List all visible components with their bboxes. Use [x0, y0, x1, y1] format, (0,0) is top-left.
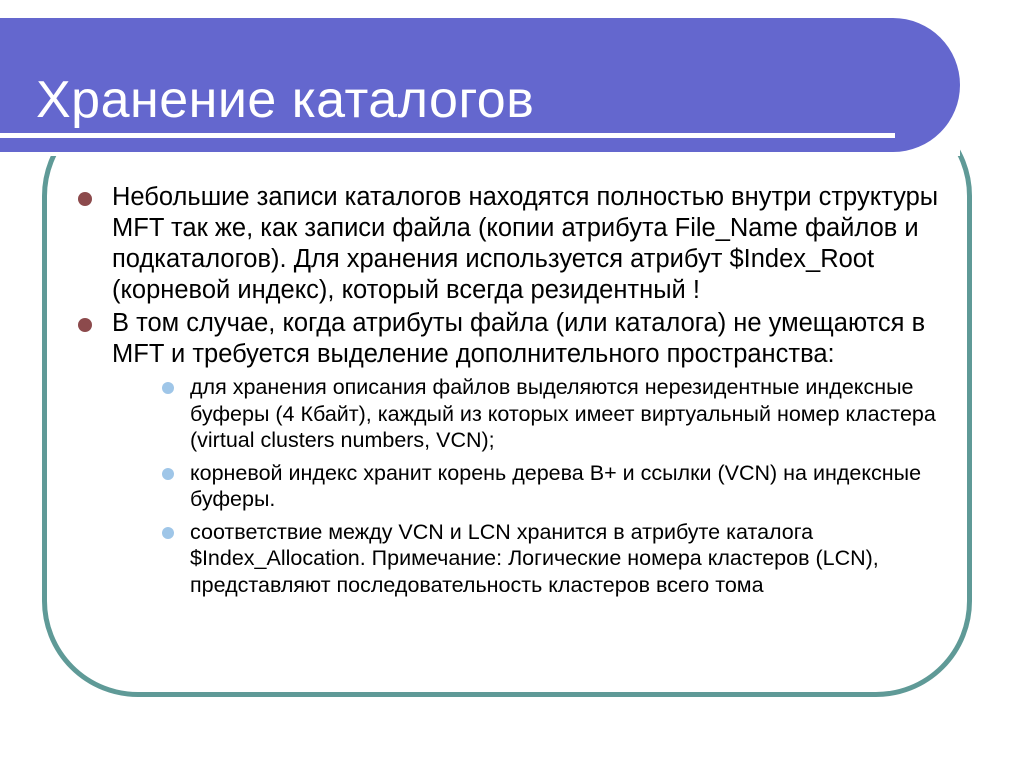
bullet-list-level1: Небольшие записи каталогов находятся пол…: [70, 182, 950, 598]
sub-bullet-text: соответствие между VCN и LCN хранится в …: [190, 520, 879, 597]
presentation-slide: Хранение каталогов Небольшие записи ката…: [0, 0, 1024, 768]
bullet-item: Небольшие записи каталогов находятся пол…: [70, 182, 950, 306]
sub-bullet-marker-icon: [162, 468, 174, 480]
sub-bullet-text: корневой индекс хранит корень дерева B+ …: [190, 461, 921, 512]
sub-bullet-item: соответствие между VCN и LCN хранится в …: [156, 519, 950, 599]
bullet-marker-icon: [78, 192, 92, 206]
sub-bullet-marker-icon: [162, 382, 174, 394]
slide-title: Хранение каталогов: [36, 71, 916, 129]
sub-bullet-marker-icon: [162, 527, 174, 539]
bullet-marker-icon: [78, 318, 92, 332]
bullet-list-level2: для хранения описания файлов выделяются …: [112, 374, 950, 598]
slide-body: Небольшие записи каталогов находятся пол…: [70, 182, 950, 604]
sub-bullet-item: корневой индекс хранит корень дерева B+ …: [156, 460, 950, 513]
sub-bullet-item: для хранения описания файлов выделяются …: [156, 374, 950, 454]
bullet-text: Небольшие записи каталогов находятся пол…: [112, 183, 938, 304]
sub-bullet-text: для хранения описания файлов выделяются …: [190, 375, 936, 452]
bullet-text: В том случае, когда атрибуты файла (или …: [112, 309, 925, 368]
bullet-item: В том случае, когда атрибуты файла (или …: [70, 308, 950, 598]
title-underline-rule: [0, 133, 895, 138]
